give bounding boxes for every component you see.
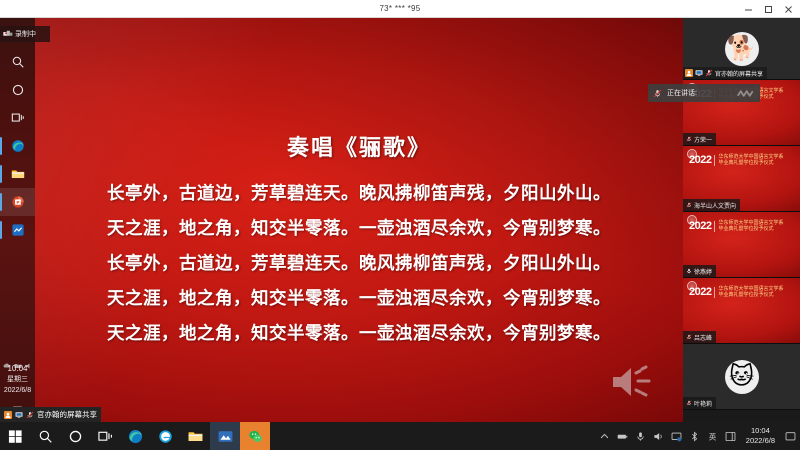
user-icon xyxy=(685,69,693,77)
banner-line-2: 毕业典礼暨学位授予仪式 xyxy=(718,160,783,166)
slide-title: 奏唱《骊歌》 xyxy=(35,130,683,162)
participant-tile[interactable]: 2022 华东师范大学中国语言文学系 毕业典礼暨学位授予仪式 吕志峰 xyxy=(683,278,800,344)
task-view-icon xyxy=(98,429,113,444)
taskbar-item-meeting-app[interactable] xyxy=(210,422,240,450)
taskbar-time: 10:04 xyxy=(746,426,775,436)
chevron-up-icon[interactable] xyxy=(599,431,610,442)
window-controls xyxy=(738,0,798,18)
mic-muted-icon xyxy=(705,69,713,77)
participant-tile[interactable]: 2022 华东师范大学中国语言文学系 毕业典礼暨学位授予仪式 海半山人文贾向 xyxy=(683,146,800,212)
network-icon[interactable] xyxy=(671,431,682,442)
recording-label: 录制中 xyxy=(15,29,36,39)
bluetooth-icon[interactable] xyxy=(689,431,700,442)
cortana-icon xyxy=(11,83,25,97)
window-title: 73* *** *95 xyxy=(379,4,420,13)
windows-taskbar: 英 10:04 2022/6/8 xyxy=(0,422,800,450)
speaking-label: 正在讲话: xyxy=(667,88,697,98)
lyric-line: 天之涯，地之角，知交半零落。一壶浊酒尽余欢，今宵别梦寒。 xyxy=(35,316,683,351)
mic-icon[interactable] xyxy=(635,431,646,442)
participant-tile-self-share[interactable]: 🐕 官亦翰的屏幕共享 xyxy=(683,18,800,80)
svg-text:英: 英 xyxy=(709,431,717,441)
monitor-icon xyxy=(695,69,703,77)
window-title-bar: 73* *** *95 xyxy=(0,0,800,18)
running-indicator xyxy=(0,137,2,155)
clock-time: 10:04 xyxy=(0,363,35,374)
screen-share-toolbar[interactable]: 官亦翰的屏幕共享 xyxy=(0,407,101,422)
taskbar-date: 2022/6/8 xyxy=(746,436,775,446)
participant-name: 海半山人文贾向 xyxy=(694,201,736,210)
volume-icon[interactable] xyxy=(653,431,664,442)
ie-icon xyxy=(158,429,173,444)
running-indicator xyxy=(0,165,2,183)
edge-icon xyxy=(128,429,143,444)
taskbar-item-wechat[interactable] xyxy=(240,422,270,450)
mic-muted-icon xyxy=(686,201,692,209)
taskbar-item-microsoft-edge[interactable] xyxy=(120,422,150,450)
recording-icon xyxy=(3,30,13,39)
action-center-icon[interactable] xyxy=(785,431,796,442)
running-indicator xyxy=(0,193,2,211)
ceremony-banner: 2022 华东师范大学中国语言文学系 毕业典礼暨学位授予仪式 xyxy=(689,220,796,232)
system-tray: 英 10:04 2022/6/8 xyxy=(599,422,796,450)
clock-weekday: 星期三 xyxy=(0,374,35,385)
sidebar-item-task-view[interactable] xyxy=(0,104,35,132)
shared-screen-area: 奏唱《骊歌》 长亭外，古道边，芳草碧连天。晚风拂柳笛声残，夕阳山外山。 天之涯，… xyxy=(0,18,683,450)
participant-tile[interactable]: 🐱 叶艳莉 xyxy=(683,344,800,410)
lyric-line: 天之涯，地之角，知交半零落。一壶浊酒尽余欢，今宵别梦寒。 xyxy=(35,211,683,246)
banner-separator xyxy=(714,221,715,232)
participant-tile[interactable]: 2022 华东师范大学中国语言文学系 毕业典礼暨学位授予仪式 徐燕婷 xyxy=(683,212,800,278)
participant-name: 方荣一 xyxy=(694,135,712,144)
sidebar-item-powerpoint[interactable]: P xyxy=(0,188,35,216)
banner-separator xyxy=(714,155,715,166)
taskbar-item-file-explorer[interactable] xyxy=(180,422,210,450)
banner-year: 2022 xyxy=(689,286,711,298)
wechat-icon xyxy=(248,429,263,444)
audio-wave-icon xyxy=(737,89,755,98)
close-button[interactable] xyxy=(778,1,798,18)
banner-line-2: 毕业典礼暨学位授予仪式 xyxy=(718,292,783,298)
taskbar-item-search[interactable] xyxy=(30,422,60,450)
taskbar-item-task-view[interactable] xyxy=(90,422,120,450)
remote-left-taskbar: P 10:04 星期三 2022/6/8 xyxy=(0,18,35,432)
sidebar-item-cortana[interactable] xyxy=(0,76,35,104)
mic-muted-icon xyxy=(686,135,692,143)
onenote-icon[interactable] xyxy=(725,431,736,442)
taskbar-clock[interactable]: 10:04 2022/6/8 xyxy=(743,426,778,446)
taskbar-item-internet-explorer[interactable] xyxy=(150,422,180,450)
powerpoint-icon: P xyxy=(11,195,25,209)
participant-name-tag: 吕志峰 xyxy=(683,331,716,343)
screen-root: 73* *** *95 奏唱《骊歌》 长亭外，古道边，芳草碧连天。晚风拂柳笛声残… xyxy=(0,0,800,450)
svg-text:P: P xyxy=(16,200,19,205)
taskbar-buttons xyxy=(0,422,270,450)
search-icon xyxy=(38,429,53,444)
recording-indicator: 录制中 xyxy=(0,26,50,42)
avatar: 🐱 xyxy=(725,360,759,394)
lyric-line: 长亭外，古道边，芳草碧连天。晚风拂柳笛声残，夕阳山外山。 xyxy=(35,246,683,281)
share-label: 官亦翰的屏幕共享 xyxy=(37,409,97,420)
participant-name: 徐燕婷 xyxy=(694,267,712,276)
mic-muted-icon[interactable] xyxy=(26,411,34,419)
ime-icon[interactable]: 英 xyxy=(707,431,718,442)
participant-name: 吕志峰 xyxy=(694,333,712,342)
maximize-restore-button[interactable] xyxy=(758,1,778,18)
ceremony-banner: 2022 华东师范大学中国语言文学系 毕业典礼暨学位授予仪式 xyxy=(689,286,796,298)
monitor-icon[interactable] xyxy=(15,411,23,419)
participant-name-tag: 叶艳莉 xyxy=(683,397,716,409)
lyric-line: 长亭外，古道边，芳草碧连天。晚风拂柳笛声残，夕阳山外山。 xyxy=(35,176,683,211)
participant-panel[interactable]: 🐕 官亦翰的屏幕共享 xyxy=(683,18,800,432)
participant-name-tag: 方荣一 xyxy=(683,133,716,145)
taskbar-item-cortana[interactable] xyxy=(60,422,90,450)
search-icon xyxy=(11,55,25,69)
mic-muted-icon xyxy=(686,399,692,407)
task-view-icon xyxy=(11,111,25,125)
sidebar-item-blue-app[interactable] xyxy=(0,216,35,244)
left-taskbar-icons: P xyxy=(0,48,35,244)
sidebar-item-file-explorer[interactable] xyxy=(0,160,35,188)
user-icon xyxy=(4,411,12,419)
lyrics-block: 长亭外，古道边，芳草碧连天。晚风拂柳笛声残，夕阳山外山。 天之涯，地之角，知交半… xyxy=(35,176,683,351)
running-indicator xyxy=(0,221,2,239)
cat-avatar-icon: 🐱 xyxy=(729,365,754,389)
mic-on-icon xyxy=(686,267,692,275)
participant-name-tag: 徐燕婷 xyxy=(683,265,716,277)
avatar: 🐕 xyxy=(725,32,759,66)
mic-muted-icon xyxy=(653,89,662,98)
clock-date: 2022/6/8 xyxy=(0,385,35,396)
sidebar-item-search[interactable] xyxy=(0,48,35,76)
dog-avatar-icon: 🐕 xyxy=(727,37,757,61)
participant-name: 叶艳莉 xyxy=(694,399,712,408)
battery-icon[interactable] xyxy=(617,431,628,442)
banner-year: 2022 xyxy=(689,154,711,166)
participant-name: 官亦翰的屏幕共享 xyxy=(715,69,763,78)
lyric-line: 天之涯，地之角，知交半零落。一壶浊酒尽余欢，今宵别梦寒。 xyxy=(35,281,683,316)
banner-separator xyxy=(714,287,715,298)
mic-muted-icon xyxy=(686,333,692,341)
app-blue-icon xyxy=(11,223,25,237)
ceremony-banner: 2022 华东师范大学中国语言文学系 毕业典礼暨学位授予仪式 xyxy=(689,154,796,166)
windows-start-icon xyxy=(8,429,23,444)
banner-line-2: 毕业典礼暨学位授予仪式 xyxy=(718,226,783,232)
speaker-icon[interactable] xyxy=(609,364,653,400)
banner-year: 2022 xyxy=(689,220,711,232)
participant-name-tag: 官亦翰的屏幕共享 xyxy=(683,67,767,79)
sidebar-item-microsoft-edge[interactable] xyxy=(0,132,35,160)
meeting-app-icon xyxy=(218,429,233,444)
file-explorer-icon xyxy=(11,167,25,181)
participant-name-tag: 海半山人文贾向 xyxy=(683,199,740,211)
taskbar-item-start[interactable] xyxy=(0,422,30,450)
remote-clock[interactable]: 10:04 星期三 2022/6/8 xyxy=(0,363,35,396)
cortana-icon xyxy=(68,429,83,444)
edge-icon xyxy=(11,139,25,153)
speaking-now-banner: 正在讲话: xyxy=(648,84,760,102)
file-explorer-icon xyxy=(188,429,203,444)
minimize-button[interactable] xyxy=(738,1,758,18)
presentation-slide: 奏唱《骊歌》 长亭外，古道边，芳草碧连天。晚风拂柳笛声残，夕阳山外山。 天之涯，… xyxy=(35,18,683,432)
